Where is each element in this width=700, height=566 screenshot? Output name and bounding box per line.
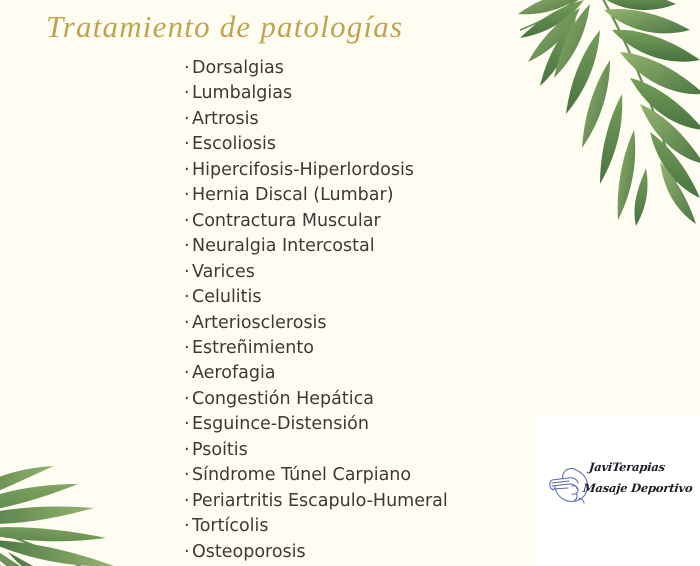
list-item: ·Hernia Discal (Lumbar) [184,183,448,208]
bullet-icon: · [184,540,192,565]
bullet-icon: · [184,158,192,183]
logo-panel: JaviTerapias Masaje Deportivo [535,416,700,566]
list-item: ·Artrosis [184,107,448,132]
list-item-label: Esguince-Distensión [192,414,369,434]
list-item: ·Tortícolis [184,514,448,539]
bullet-icon: · [184,56,192,81]
bullet-icon: · [184,514,192,539]
list-item: ·Periartritis Escapulo-Humeral [184,489,448,514]
bullet-icon: · [184,81,192,106]
list-item: ·Aerofagia [184,361,448,386]
list-item-label: Arteriosclerosis [192,313,327,333]
list-item-label: Varices [192,262,255,282]
list-item: ·Varices [184,260,448,285]
list-item: ·Lumbalgias [184,81,448,106]
list-item-label: Contractura Muscular [192,211,381,231]
bullet-icon: · [184,311,192,336]
list-item: ·Contractura Muscular [184,209,448,234]
list-item-label: Periartritis Escapulo-Humeral [192,491,448,511]
list-item: ·Esguince-Distensión [184,412,448,437]
bullet-icon: · [184,387,192,412]
list-item-label: Psoitis [192,440,248,460]
bullet-icon: · [184,412,192,437]
list-item-label: Escoliosis [192,134,276,154]
list-item-label: Artrosis [192,109,259,129]
list-item-label: Hernia Discal (Lumbar) [192,185,394,205]
logo-secondary-text: Masaje Deportivo [582,481,698,495]
bullet-icon: · [184,260,192,285]
list-item: ·Neuralgia Intercostal [184,234,448,259]
list-item: ·Arteriosclerosis [184,311,448,336]
page-title: Tratamiento de patologías [46,9,403,45]
bullet-icon: · [184,336,192,361]
list-item: ·Estreñimiento [184,336,448,361]
list-item-label: Síndrome Túnel Carpiano [192,465,411,485]
list-item-label: Aerofagia [192,363,276,383]
list-item: ·Congestión Hepática [184,387,448,412]
list-item-label: Congestión Hepática [192,389,374,409]
logo-primary-text: JaviTerapias [588,460,698,474]
list-item-label: Estreñimiento [192,338,314,358]
bullet-icon: · [184,285,192,310]
logo-wordmark: JaviTerapias Masaje Deportivo [583,460,698,495]
bullet-icon: · [184,438,192,463]
bullet-icon: · [184,209,192,234]
list-item: ·Escoliosis [184,132,448,157]
list-item: ·Osteoporosis [184,540,448,565]
list-item-label: Lumbalgias [192,83,292,103]
bullet-icon: · [184,107,192,132]
list-item: ·Síndrome Túnel Carpiano [184,463,448,488]
list-item-label: Neuralgia Intercostal [192,236,375,256]
list-item-label: Hipercifosis-Hiperlordosis [192,160,414,180]
list-item-label: Tortícolis [192,516,269,536]
bullet-icon: · [184,361,192,386]
list-item: ·Psoitis [184,438,448,463]
bullet-icon: · [184,489,192,514]
bullet-icon: · [184,234,192,259]
list-item-label: Dorsalgias [192,58,284,78]
bullet-icon: · [184,132,192,157]
list-item: ·Celulitis [184,285,448,310]
palm-frond-top-right-icon [500,0,700,226]
slide-canvas: Tratamiento de patologías ·Dorsalgias ·L… [0,0,700,566]
list-item: ·Dorsalgias [184,56,448,81]
palm-frond-bottom-left-icon [0,420,168,566]
bullet-icon: · [184,183,192,208]
bullet-icon: · [184,463,192,488]
pathology-list: ·Dorsalgias ·Lumbalgias ·Artrosis ·Escol… [184,56,448,565]
list-item-label: Osteoporosis [192,542,306,562]
list-item-label: Celulitis [192,287,262,307]
list-item: ·Hipercifosis-Hiperlordosis [184,158,448,183]
